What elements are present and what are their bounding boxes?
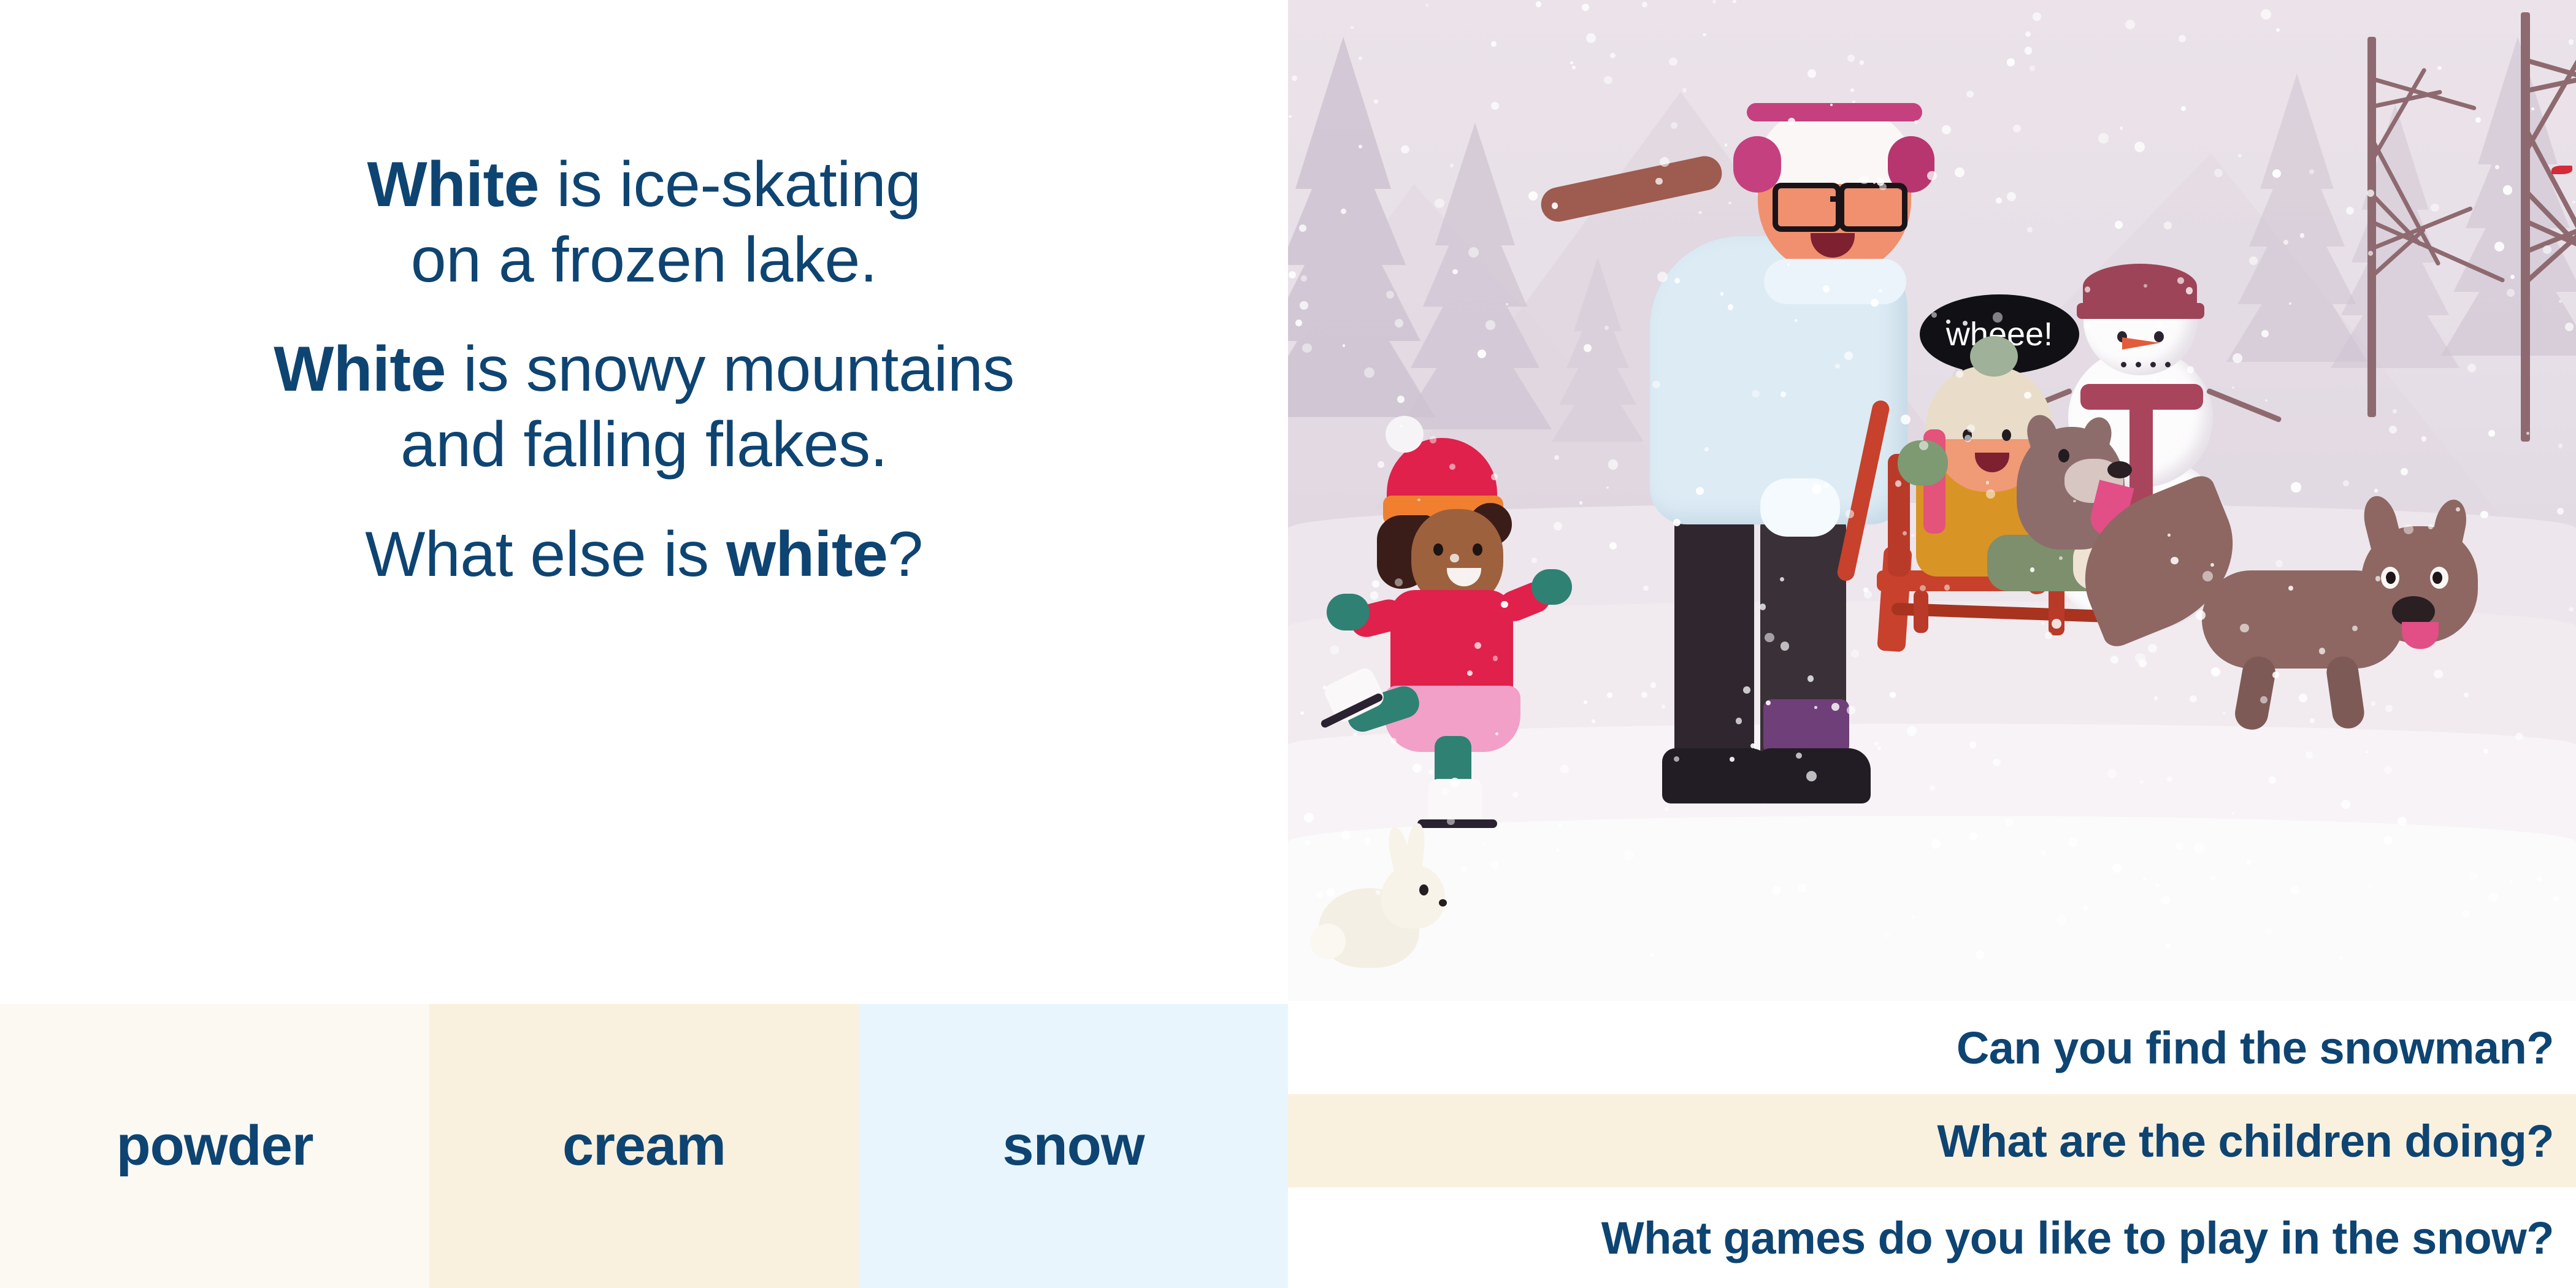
snowflake [2167, 776, 2172, 782]
snowflake [2045, 632, 2052, 638]
snowflake [1430, 436, 1436, 443]
snowflake [2488, 892, 2498, 902]
snowflake [2385, 705, 2392, 711]
snowflake [2144, 284, 2147, 288]
snowflake [2195, 843, 2205, 853]
snowflake [2507, 289, 2515, 297]
snowflake [2480, 511, 2488, 518]
snowflake [1376, 890, 1381, 895]
snowflake [2319, 648, 2325, 654]
snowflake [2161, 896, 2170, 905]
snowflake [2393, 409, 2397, 413]
snowflake [2352, 626, 2358, 631]
snowflake [1955, 167, 1965, 177]
snowflake [1914, 120, 1917, 123]
snowflake [1289, 271, 1296, 278]
snowflake [1736, 718, 1742, 724]
snowflake [1491, 861, 1500, 869]
snowflake [2495, 165, 2499, 169]
snowflake [1657, 272, 1667, 282]
snowflake [2557, 508, 2564, 515]
snowflake [2115, 221, 2123, 229]
snowflake [2033, 12, 2041, 21]
snowflake [2024, 392, 2031, 399]
verse-text: on a frozen lake. [411, 224, 877, 296]
snowflake [2181, 106, 2186, 111]
snowflake [2186, 287, 2193, 294]
snowflake [2488, 430, 2495, 437]
running-dog-figure [2165, 503, 2484, 736]
snowflake [2179, 35, 2186, 42]
snowflake [2041, 622, 2044, 625]
snowflake [2401, 468, 2408, 475]
snowflake [2134, 142, 2145, 152]
snowflake [2288, 586, 2293, 591]
snowflake [1425, 4, 1428, 7]
snowflake [1993, 759, 2000, 766]
snowflake [2569, 607, 2574, 612]
snowflake [1623, 850, 1634, 861]
snowflake [1673, 519, 1681, 526]
snowflake [2190, 696, 2197, 703]
snowflake [1698, 211, 1701, 214]
snowflake [1364, 838, 1371, 845]
snowflake [1570, 61, 1573, 64]
snowflake [2110, 656, 2118, 664]
snowflake [1901, 415, 1911, 424]
snowflake [2431, 204, 2439, 212]
snowflake [1330, 645, 1339, 654]
snowflake [2233, 353, 2242, 363]
snowflake [2434, 670, 2442, 678]
snowflake [2389, 426, 2397, 434]
snowflake [2240, 624, 2249, 633]
snowflake [2107, 769, 2117, 778]
snowflake [1807, 675, 1814, 682]
snowflake [1944, 585, 1950, 590]
question-prompt-list: Can you find the snowman?What are the ch… [1288, 1001, 2576, 1288]
snowflake [2030, 567, 2035, 572]
word-card-powder[interactable]: powder [0, 1004, 429, 1288]
snowflake [1390, 738, 1397, 744]
snowflake [1860, 60, 1864, 64]
snowflake [2475, 117, 2481, 123]
question-text: What games do you like to play in the sn… [1601, 1212, 2554, 1264]
snowflake [1584, 344, 1592, 352]
snowflake [1584, 700, 1587, 704]
snowflake [2299, 694, 2307, 702]
snowflake [1461, 866, 1467, 872]
snowflake [2272, 169, 2281, 178]
verse-text: and falling flakes. [401, 409, 887, 480]
snowflake [1435, 199, 1444, 208]
snowflake [1704, 447, 1709, 451]
snowflake [1682, 88, 1687, 92]
snowflake [1491, 102, 1500, 110]
ice-skating-girl-figure [1352, 429, 1555, 797]
snowflake [1395, 319, 1403, 328]
snowflake [2098, 133, 2108, 143]
snowflake [1491, 473, 1498, 480]
snowflake [1326, 888, 1335, 897]
bare-tree [2367, 37, 2374, 417]
snowflake [1491, 41, 1497, 47]
snowflake [1642, 2, 1647, 7]
snowflake [2155, 320, 2163, 328]
snowflake [2154, 696, 2158, 700]
snowflake [2306, 751, 2313, 759]
snowflake [1919, 441, 1928, 450]
snowflake [1847, 706, 1855, 715]
snowflake [2175, 842, 2183, 849]
snowflake [2375, 576, 2380, 581]
snowflake [2073, 500, 2076, 502]
snowflake [1604, 326, 1608, 329]
snowflake [1289, 115, 1292, 118]
snowflake [1364, 367, 1374, 378]
snowflake [1806, 771, 1817, 781]
snowflake [1301, 275, 1306, 281]
snowflake [1643, 586, 1649, 591]
snowflake [1781, 642, 1790, 651]
snowflake [1609, 542, 1617, 550]
snowflake [1703, 33, 1706, 36]
question-row: What are the children doing? [1288, 1094, 2576, 1187]
snowflake [1765, 633, 1774, 643]
snowflake [2553, 896, 2559, 902]
book-spread-page: White is ice-skatingon a frozen lake.Whi… [0, 0, 2576, 1288]
snowflake [1814, 706, 1817, 708]
word-card-snow[interactable]: snow [859, 1004, 1288, 1288]
snowflake [1652, 381, 1660, 388]
snowflake [2139, 659, 2147, 667]
snowflake [2469, 872, 2477, 880]
snowflake [2531, 107, 2534, 110]
snowflake [1965, 435, 1972, 442]
snowflake [1295, 320, 1302, 326]
question-text: Can you find the snowman? [1957, 1022, 2554, 1074]
snowflake [1374, 99, 1378, 103]
verse-emphasis: White [367, 149, 539, 220]
snowflake [1401, 145, 1409, 154]
snowflake [1996, 197, 2002, 204]
snowflake [1733, 0, 1736, 3]
snowflake [1871, 299, 1879, 307]
snowflake [1850, 88, 1853, 91]
red-bird [2551, 166, 2572, 174]
snowflake [1798, 884, 1806, 892]
snowflake [1728, 304, 1733, 310]
snowflake [2559, 300, 2562, 303]
snowflake [2187, 366, 2194, 373]
snowflake [1966, 91, 1973, 98]
snowflake [1582, 4, 1589, 11]
snowflake [1447, 818, 1455, 826]
snowflake [1942, 125, 1951, 134]
verse-emphasis: White [274, 334, 446, 405]
snowflake [1895, 480, 1901, 486]
pine-tree [1398, 123, 1552, 429]
verse-line: What else is white? [0, 517, 1288, 592]
word-card-cream[interactable]: cream [429, 1004, 859, 1288]
snowflake [2367, 883, 2371, 887]
right-illustration-panel: wheee! [1288, 0, 2576, 1288]
snowflake [2558, 443, 2563, 448]
pine-tree [1552, 258, 1644, 442]
snowflake [1907, 726, 1917, 736]
snowflake [1911, 534, 1914, 537]
snowflake [2291, 886, 2299, 894]
snowflake [1607, 692, 1612, 698]
snowflake [2437, 66, 2442, 71]
left-text-panel: White is ice-skatingon a frozen lake.Whi… [0, 0, 1288, 1288]
snowflake [2371, 701, 2375, 705]
winter-scene-illustration: wheee! [1288, 0, 2576, 1001]
snowflake [1528, 191, 1538, 201]
snowflake [2261, 9, 2271, 20]
snowflake [1669, 58, 1677, 66]
snowflake [2569, 39, 2574, 45]
snowflake [2428, 524, 2432, 529]
snowflake [1608, 459, 1618, 469]
snowflake [1292, 75, 1297, 81]
snowflake [2013, 125, 2021, 132]
snowflake [2025, 47, 2032, 54]
snowflake [1302, 343, 1311, 353]
white-rabbit-figure [1313, 840, 1460, 981]
word-card-label: powder [116, 1114, 313, 1178]
snowflake [1877, 746, 1881, 750]
snowflake [1343, 344, 1346, 347]
snowflake [1450, 164, 1454, 167]
verse-stanza: What else is white? [0, 517, 1288, 592]
snowflake [1760, 604, 1766, 610]
snowflake [1874, 742, 1879, 746]
snowflake [2214, 169, 2223, 177]
verse-line: White is ice-skating [0, 147, 1288, 223]
verse-text: is ice-skating [539, 149, 921, 220]
snowflake [1300, 301, 1308, 310]
snowflake [1483, 842, 1486, 845]
question-row: What games do you like to play in the sn… [1288, 1187, 2576, 1288]
snowflake [2309, 169, 2314, 174]
snowflake [1485, 320, 1495, 330]
snowflake [2210, 875, 2215, 881]
snowflake [2177, 277, 2184, 284]
verse-stanza: White is snowy mountainsand falling flak… [0, 332, 1288, 482]
snowflake [1512, 792, 1519, 798]
snowflake [2265, 399, 2267, 402]
snowflake [2143, 878, 2146, 881]
snowflake [1823, 285, 1830, 292]
snowflake [2265, 928, 2272, 935]
question-text: What are the children doing? [1937, 1115, 2554, 1167]
snowflake [1610, 53, 1616, 58]
snowflake [1752, 390, 1760, 398]
snowflake [1920, 585, 1926, 592]
snowflake [2404, 524, 2413, 534]
snowflake [1766, 700, 1771, 705]
snowflake [2007, 58, 2014, 66]
snowflake [2343, 480, 2348, 486]
word-card-row: powdercreamsnow [0, 1004, 1288, 1288]
snowflake [1927, 171, 1937, 181]
snowflake [1851, 650, 1859, 657]
snowflake [1903, 531, 1907, 535]
snowflake [1807, 69, 1816, 78]
snowflake [1556, 848, 1560, 852]
snowflake [1397, 396, 1405, 403]
snowflake [1586, 33, 1596, 43]
snowflake [1650, 953, 1654, 956]
snowflake [1946, 320, 1950, 324]
snowflake [1671, 122, 1677, 129]
snowflake [1877, 178, 1885, 186]
snowflake [1351, 26, 1353, 29]
snowflake [2421, 436, 2426, 441]
snowflake [2232, 812, 2234, 815]
snowflake [2365, 751, 2367, 753]
snowflake [2057, 915, 2066, 925]
snowflake [1560, 765, 1569, 773]
snowflake [2171, 557, 2178, 564]
snowflake [2168, 534, 2171, 537]
snowflake [1386, 291, 1394, 299]
snowflake [2374, 489, 2377, 492]
snowflake [2260, 696, 2267, 703]
snowflake [1890, 692, 1896, 698]
snowflake [1720, 292, 1723, 295]
snowflake [2384, 766, 2392, 774]
bare-tree [2521, 12, 2527, 442]
snowflake [1712, 0, 1716, 4]
snowflake [2202, 571, 2213, 581]
snowflake [2368, 251, 2373, 256]
verse-line: and falling flakes. [0, 407, 1288, 483]
snowflake [2166, 943, 2170, 948]
verse-stanza: White is ice-skatingon a frozen lake. [0, 147, 1288, 297]
snowflake [2503, 185, 2512, 194]
snowflake [2052, 619, 2061, 629]
snowflake [1323, 686, 1327, 689]
snowflake [2276, 28, 2280, 32]
snowflake [1847, 55, 1855, 62]
snowflake [2515, 733, 2523, 740]
snowflake [1501, 601, 1508, 608]
snowflake [1413, 764, 1422, 773]
snowflake [1969, 742, 1976, 748]
snowflake [1750, 743, 1755, 748]
snowflake [2083, 323, 2091, 330]
snowflake [2510, 880, 2513, 883]
snowflake [1531, 558, 1537, 563]
snowflake [1674, 756, 1679, 762]
snowflake [1931, 312, 1937, 318]
snowflake [2120, 126, 2123, 129]
snowflake [2164, 221, 2171, 229]
verse-text: What else is [365, 519, 726, 590]
verse-line: White is snowy mountains [0, 332, 1288, 407]
snowflake [2383, 578, 2386, 581]
snowflake [1452, 269, 1457, 274]
snowflake [2007, 192, 2016, 201]
snowflake [1993, 312, 2003, 322]
snowflake [2272, 672, 2279, 678]
word-card-label: snow [1002, 1114, 1144, 1178]
snowflake [1572, 66, 1576, 69]
snowflake [1730, 757, 1734, 761]
snowflake [2027, 227, 2033, 232]
snowflake [2140, 780, 2144, 784]
snowflake [1604, 76, 1612, 84]
snowflake [2367, 190, 2374, 197]
snowflake [1428, 770, 1433, 775]
snowflake [1976, 951, 1984, 959]
snowflake [2467, 364, 2475, 372]
snowflake [2543, 245, 2551, 253]
verse-text: ? [887, 519, 922, 590]
snowflake [2456, 507, 2460, 512]
snowflake [1558, 824, 1562, 828]
snowflake [1468, 247, 1479, 258]
verse-line: on a frozen lake. [0, 223, 1288, 298]
snowflake [1863, 588, 1868, 592]
snowflake [1963, 321, 1968, 326]
snowflake [2398, 817, 2407, 826]
word-card-label: cream [562, 1114, 726, 1178]
snowflake [2005, 818, 2012, 826]
snowflake [1743, 686, 1750, 694]
snowflake [2494, 242, 2504, 251]
snowflake [1316, 891, 1323, 898]
snowflake [2232, 386, 2234, 389]
snowflake [1781, 391, 1786, 397]
verse-block: White is ice-skatingon a frozen lake.Whi… [0, 147, 1288, 627]
snowflake [2030, 66, 2035, 71]
snowflake [1305, 840, 1310, 845]
snowflake [1655, 178, 1662, 185]
snowflake [2247, 860, 2252, 865]
snowflake [1378, 461, 1384, 468]
verse-emphasis: white [726, 519, 887, 590]
snowflake [2125, 20, 2135, 29]
snowflake [2310, 718, 2315, 723]
snowflake [2291, 482, 2301, 492]
snowflake [1493, 656, 1498, 661]
snowflake [2153, 378, 2156, 381]
snowflake [1986, 481, 1989, 484]
snowflake [1536, 1, 1542, 7]
verse-text: is snowy mountains [446, 334, 1014, 405]
snowflake [1450, 778, 1460, 788]
question-row: Can you find the snowman? [1288, 1001, 2576, 1094]
snowflake [2025, 31, 2031, 37]
snowflake [1650, 682, 1656, 688]
snowflake [1844, 351, 1853, 360]
snowflake [1969, 832, 1977, 840]
